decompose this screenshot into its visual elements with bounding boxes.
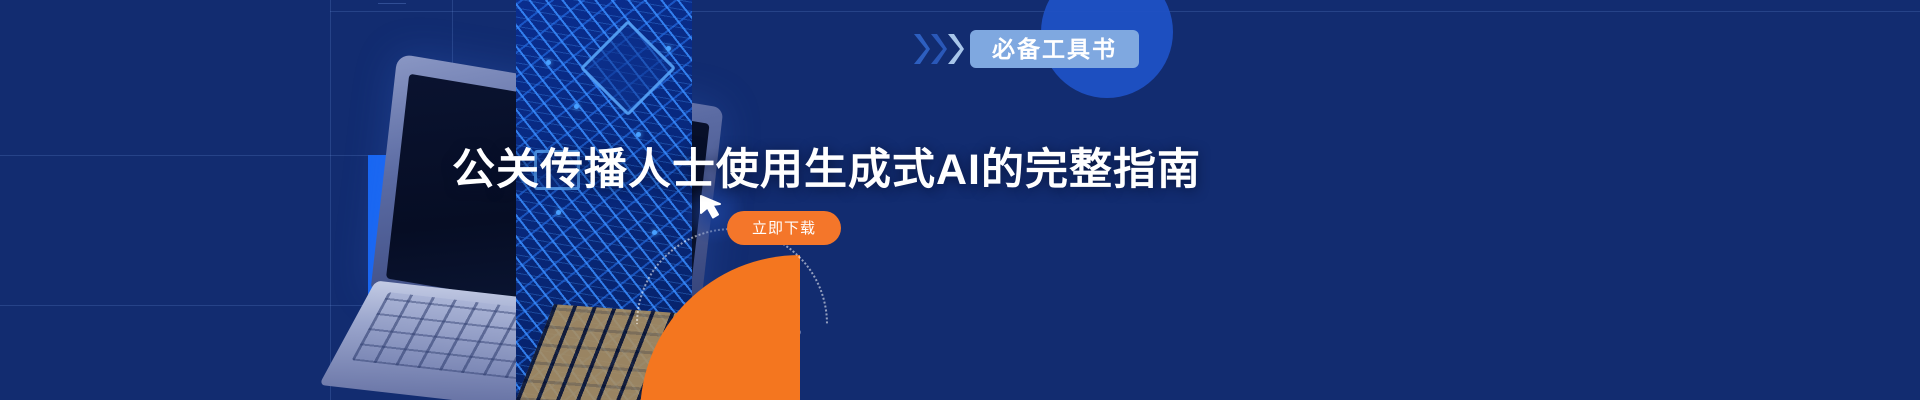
chevron-right-icon bbox=[913, 32, 930, 66]
cursor-arrow-icon bbox=[697, 192, 731, 226]
chevron-right-icon bbox=[930, 32, 947, 66]
chevron-right-icon bbox=[947, 32, 964, 66]
circuit-via bbox=[546, 60, 551, 65]
download-now-label: 立即下载 bbox=[752, 221, 816, 236]
gridline-vertical bbox=[330, 0, 331, 400]
circuit-via bbox=[556, 210, 561, 215]
download-now-button[interactable]: 立即下载 bbox=[727, 211, 841, 245]
circuit-via bbox=[636, 132, 641, 137]
badge-label: 必备工具书 bbox=[992, 38, 1117, 61]
chevron-group bbox=[913, 32, 964, 66]
circuit-via bbox=[652, 230, 657, 235]
circuit-via bbox=[574, 104, 579, 109]
promo-banner: 必备工具书 公关传播人士使用生成式AI的完整指南 立即下载 bbox=[0, 0, 1920, 400]
page-title: 公关传播人士使用生成式AI的完整指南 bbox=[452, 146, 1201, 195]
badge-pill: 必备工具书 bbox=[970, 30, 1139, 68]
badge: 必备工具书 bbox=[913, 29, 1139, 69]
circuit-via bbox=[666, 46, 671, 51]
tick-mark bbox=[378, 3, 406, 4]
